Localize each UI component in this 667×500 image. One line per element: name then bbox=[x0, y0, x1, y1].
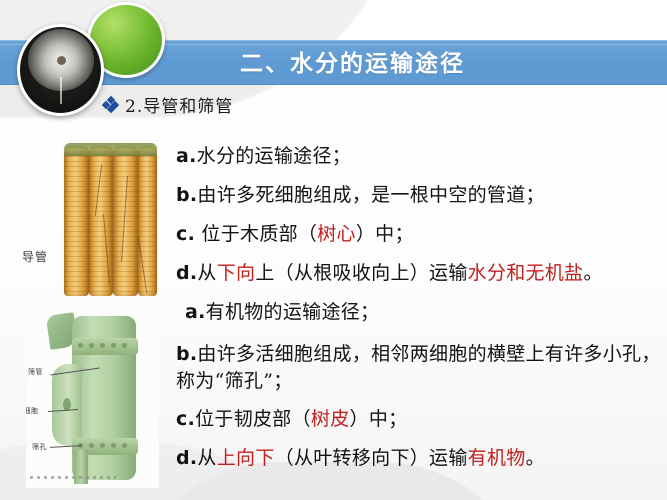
highlighted-text: 水分和无机盐 bbox=[468, 262, 584, 284]
phloem-pore bbox=[111, 443, 116, 448]
body-text: 。 bbox=[583, 262, 602, 284]
phloem-label-sieve-tube: 筛管 bbox=[28, 367, 43, 377]
phloem-line-b: b.由许多活细胞组成，相邻两细胞的横壁上有许多小孔，称为“筛孔”； bbox=[176, 341, 662, 395]
xylem-line-d: d.从下向上（从根吸收向上）运输水分和无机盐。 bbox=[176, 263, 662, 283]
highlighted-text: 下向 bbox=[217, 262, 256, 284]
body-text: ）中； bbox=[356, 223, 414, 245]
phloem-pore bbox=[78, 343, 83, 348]
body-text: 位于木质部（ bbox=[195, 223, 317, 245]
phloem-pore bbox=[122, 343, 127, 348]
phloem-label-companion-cell: 伴细胞 bbox=[26, 406, 39, 416]
xylem-line-c: c. 位于木质部（树心）中； bbox=[176, 224, 662, 244]
xylem-top-cap bbox=[64, 143, 157, 156]
line-marker: b. bbox=[176, 343, 197, 365]
body-text: 从 bbox=[197, 262, 216, 284]
highlighted-text: 有机物 bbox=[468, 447, 526, 469]
phloem-line-a: a.有机物的运输途径； bbox=[176, 302, 662, 322]
phloem-line-d: d.从上向下（从叶转移向下）运输有机物。 bbox=[176, 448, 662, 468]
xylem-tube bbox=[113, 146, 138, 296]
phloem-pore bbox=[89, 343, 94, 348]
body-text: 由许多活细胞组成，相邻两细胞的横壁上有许多小孔，称为“筛孔”； bbox=[176, 343, 661, 392]
xylem-line-b: b.由许多死细胞组成，是一根中空的管道； bbox=[176, 185, 662, 205]
body-text: ）中； bbox=[350, 408, 408, 430]
slide-canvas: 二、水分的运输途径 2.导管和筛管 导管 bbox=[0, 0, 667, 500]
body-text: 位于韧皮部（ bbox=[195, 408, 311, 430]
phloem-pore bbox=[100, 343, 105, 348]
phloem-scale-bar bbox=[30, 476, 116, 479]
line-marker: c. bbox=[176, 408, 195, 430]
section-heading: 2.导管和筛管 bbox=[103, 92, 233, 117]
body-text: 由许多死细胞组成，是一根中空的管道； bbox=[197, 184, 544, 206]
phloem-pore bbox=[100, 443, 105, 448]
body-text: 。 bbox=[526, 447, 545, 469]
body-text: 水分的运输途径； bbox=[197, 145, 351, 167]
xylem-tube bbox=[64, 146, 89, 296]
body-text-block: a.水分的运输途径； b.由许多死细胞组成，是一根中空的管道； c. 位于木质部… bbox=[176, 146, 662, 487]
phloem-pore bbox=[122, 443, 127, 448]
line-marker: d. bbox=[176, 262, 197, 284]
dandelion-photo bbox=[17, 24, 104, 116]
diamond-bullet-icon bbox=[103, 97, 118, 112]
xylem-vessel-diagram bbox=[62, 140, 159, 298]
xylem-line-a: a.水分的运输途径； bbox=[176, 146, 662, 166]
section-heading-label: 2.导管和筛管 bbox=[125, 92, 233, 117]
line-marker: a. bbox=[176, 145, 197, 167]
phloem-pore bbox=[111, 343, 116, 348]
line-marker: b. bbox=[176, 184, 197, 206]
phloem-pore bbox=[89, 443, 94, 448]
phloem-sieve-tube-diagram: 筛管 伴细胞 筛孔 bbox=[26, 310, 159, 488]
phloem-label-sieve-pore: 筛孔 bbox=[32, 442, 47, 452]
body-text: 有机物的运输途径； bbox=[206, 301, 380, 323]
body-text: （从叶转移向下）运输 bbox=[275, 447, 468, 469]
highlighted-text: 上向下 bbox=[217, 447, 275, 469]
body-text: 从 bbox=[197, 447, 216, 469]
phloem-line-c: c.位于韧皮部（树皮）中； bbox=[176, 409, 662, 429]
highlighted-text: 树心 bbox=[317, 223, 356, 245]
line-marker: c. bbox=[176, 223, 195, 245]
body-text: 上（从根吸收向上）运输 bbox=[255, 262, 467, 284]
highlighted-text: 树皮 bbox=[311, 408, 350, 430]
phloem-companion-cell bbox=[52, 364, 82, 446]
xylem-tube bbox=[138, 146, 157, 296]
dandelion-puff bbox=[28, 29, 94, 91]
line-marker: a. bbox=[185, 301, 206, 323]
xylem-figure-label: 导管 bbox=[22, 248, 48, 265]
line-marker: d. bbox=[176, 447, 197, 469]
